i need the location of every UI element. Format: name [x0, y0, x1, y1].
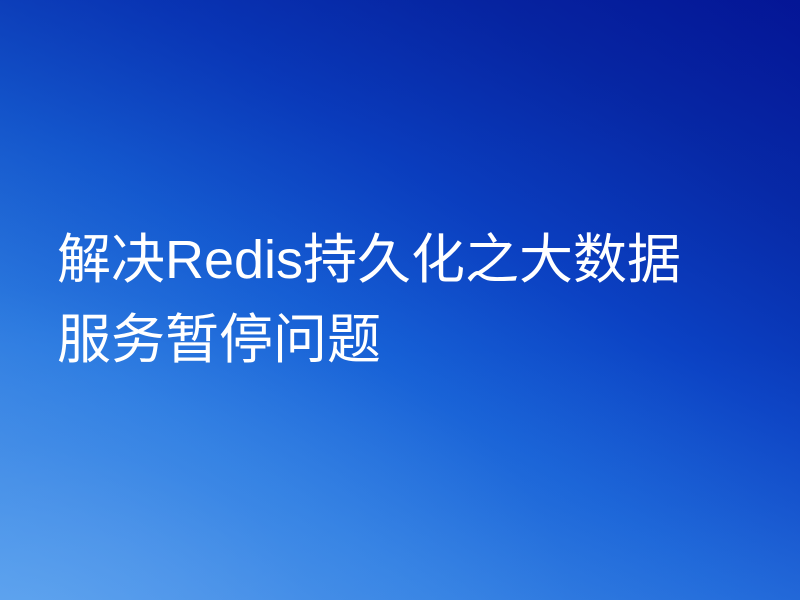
article-cover-card: 解决Redis持久化之大数据服务暂停问题	[0, 0, 800, 600]
title-block: 解决Redis持久化之大数据服务暂停问题	[57, 0, 717, 600]
cover-title: 解决Redis持久化之大数据服务暂停问题	[57, 220, 717, 380]
